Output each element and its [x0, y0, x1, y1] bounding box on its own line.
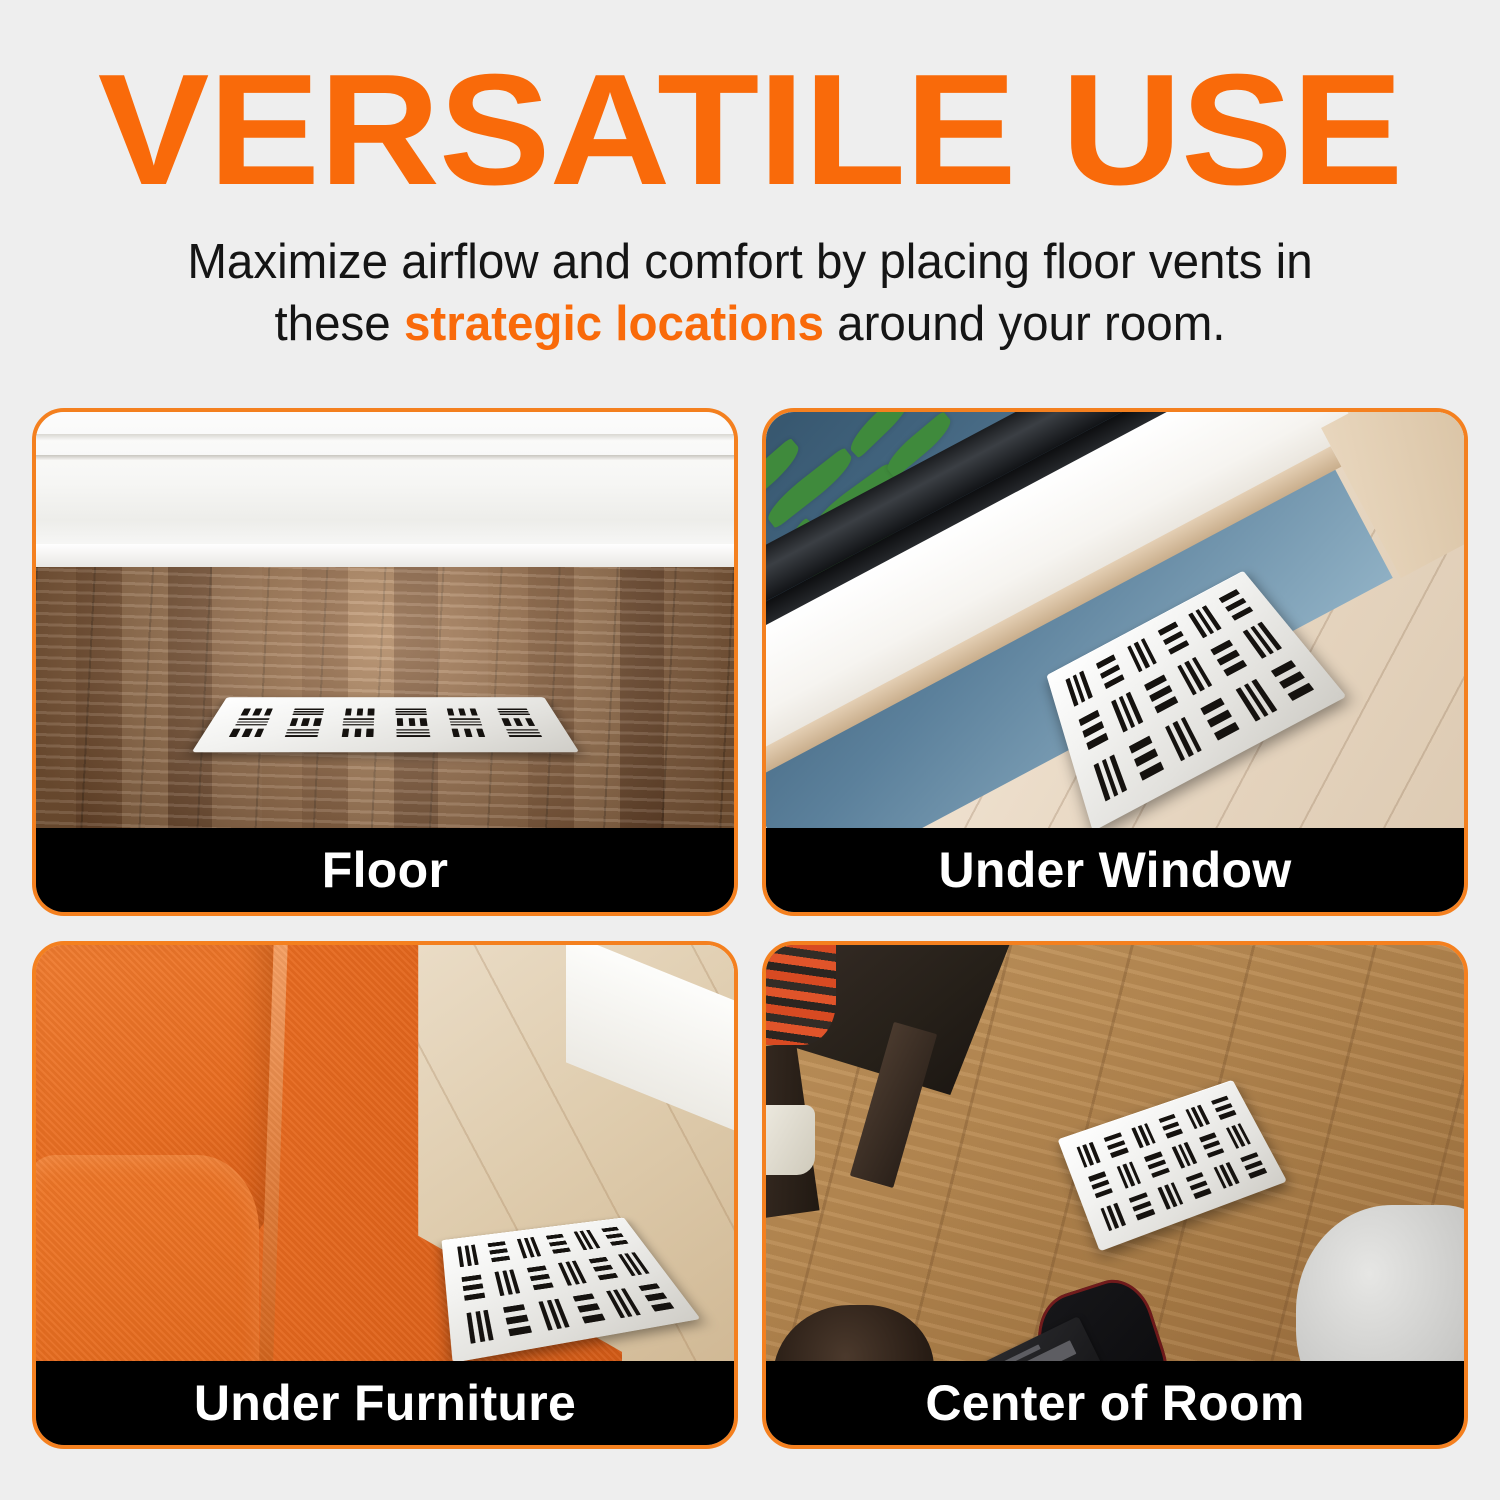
- cup: [766, 1105, 815, 1175]
- baseboard-molding: [36, 412, 734, 567]
- card-caption-under-furniture: Under Furniture: [36, 1361, 734, 1445]
- use-case-card-center-of-room[interactable]: Center of Room: [762, 941, 1468, 1449]
- striped-cloth: [766, 945, 836, 1045]
- card-caption-center-of-room: Center of Room: [766, 1361, 1464, 1445]
- subtitle-highlight: strategic locations: [404, 297, 824, 351]
- page-title: VERSATILE USE: [0, 56, 1500, 205]
- header: VERSATILE USE Maximize airflow and comfo…: [0, 0, 1500, 356]
- use-case-card-under-furniture[interactable]: Under Furniture: [32, 941, 738, 1449]
- card-caption-floor: Floor: [36, 828, 734, 912]
- use-case-grid: Floor: [32, 408, 1468, 1466]
- floor-register-vent: [191, 697, 579, 752]
- use-case-card-under-window[interactable]: Under Window: [762, 408, 1468, 916]
- card-caption-under-window: Under Window: [766, 828, 1464, 912]
- use-case-card-floor[interactable]: Floor: [32, 408, 738, 916]
- page-subtitle: Maximize airflow and comfort by placing …: [23, 231, 1478, 356]
- subtitle-text-end: around your room.: [824, 297, 1226, 351]
